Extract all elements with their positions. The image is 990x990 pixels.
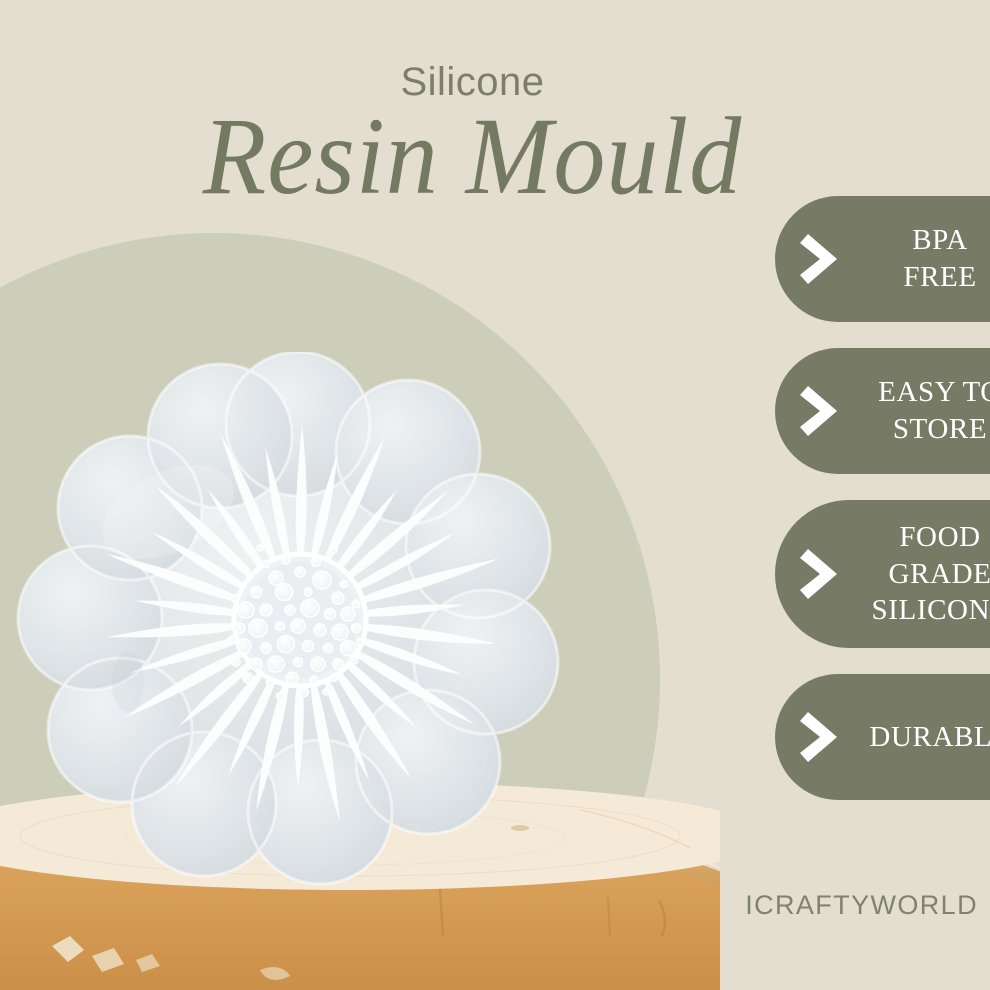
chevron-right-icon	[799, 706, 845, 768]
chevron-right-icon	[799, 543, 845, 605]
feature-badge-easy-to-store[interactable]: EASY TO STORE	[775, 348, 990, 474]
feature-badge-label: DURABLE	[855, 719, 990, 756]
feature-badge-label: EASY TO STORE	[855, 374, 990, 447]
feature-badge-label: BPA FREE	[855, 222, 990, 295]
feature-badge-list: BPA FREE EASY TO STORE FOOD GRADE SILICO…	[775, 196, 990, 826]
product-marketing-image: Silicone Resin Mould BPA FREE EASY TO ST…	[0, 0, 990, 990]
silicone-flower-mould	[8, 352, 608, 912]
chevron-right-icon	[799, 380, 845, 442]
title-block: Silicone Resin Mould	[0, 62, 945, 210]
feature-badge-food-grade-silicone[interactable]: FOOD GRADE SILICONE	[775, 500, 990, 648]
chevron-right-icon	[799, 228, 845, 290]
feature-badge-durable[interactable]: DURABLE	[775, 674, 990, 800]
feature-badge-label: FOOD GRADE SILICONE	[855, 519, 990, 629]
feature-badge-bpa-free[interactable]: BPA FREE	[775, 196, 990, 322]
brand-watermark: ICRAFTYWORLD	[745, 890, 978, 921]
